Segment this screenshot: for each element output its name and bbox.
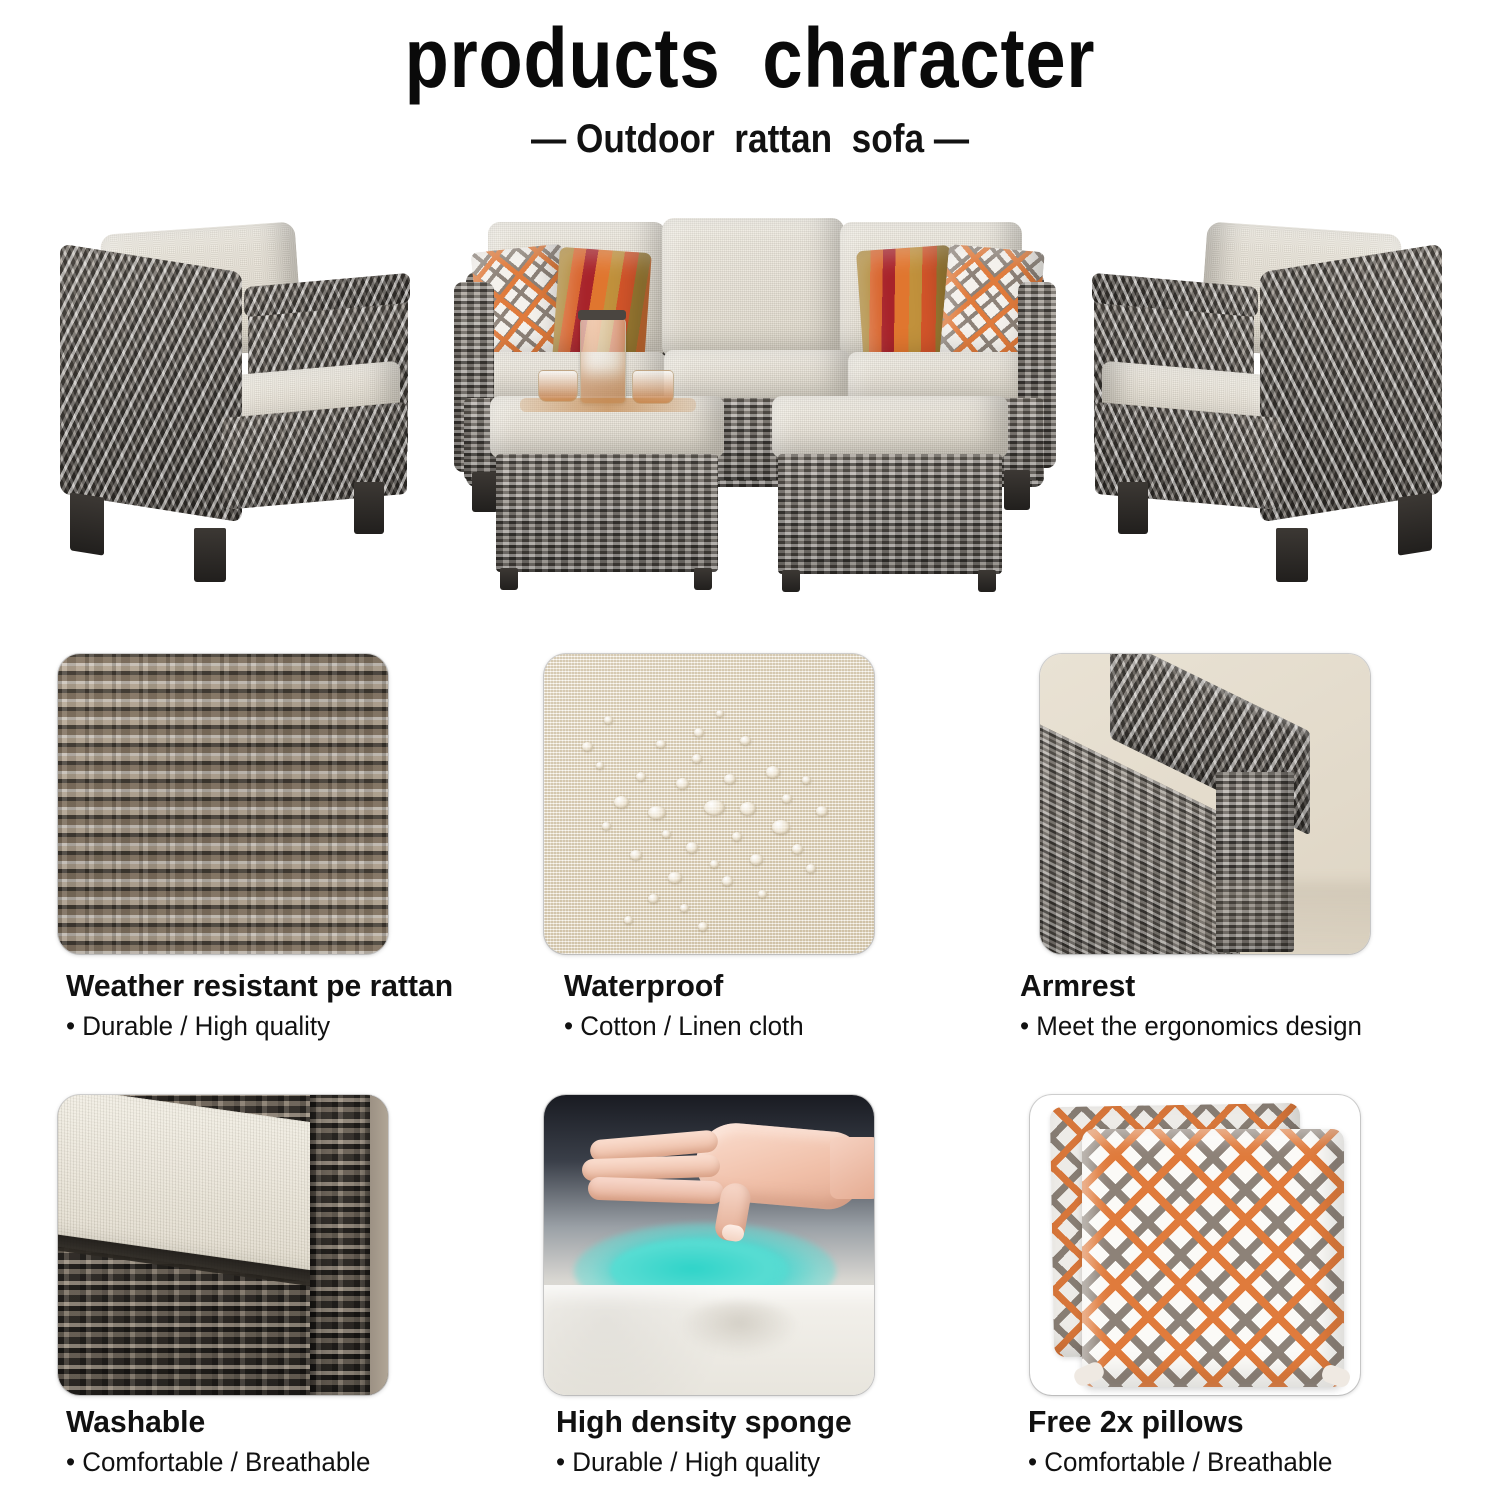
feature-title-high-density-sponge: High density sponge [556, 1404, 852, 1440]
center-sofa-set [448, 200, 1058, 595]
table-runner [520, 398, 696, 412]
header: products character — Outdoor rattan sofa… [0, 0, 1500, 185]
feature-card-free-2x-pillows [1030, 1095, 1360, 1395]
right-armchair [1090, 210, 1450, 585]
page-subtitle: — Outdoor rattan sofa — [90, 117, 1410, 162]
feature-title-free-2x-pillows: Free 2x pillows [1028, 1404, 1244, 1440]
feature-desc-armrest: • Meet the ergonomics design [1020, 1011, 1362, 1042]
feature-title-waterproof: Waterproof [564, 968, 723, 1004]
feature-title-armrest: Armrest [1020, 968, 1135, 1004]
hand [566, 1121, 866, 1246]
pillow-front [1082, 1129, 1344, 1387]
feature-desc-high-density-sponge: • Durable / High quality [556, 1447, 820, 1478]
hero-product-image [0, 190, 1500, 595]
feature-card-weather-resistant-pe-rattan [58, 654, 388, 954]
feature-title-weather-resistant-pe-rattan: Weather resistant pe rattan [66, 968, 453, 1004]
feature-card-waterproof [544, 654, 874, 954]
feature-title-washable: Washable [66, 1404, 205, 1440]
ottoman-right [768, 396, 1012, 594]
feature-card-high-density-sponge [544, 1095, 874, 1395]
ottoman-left [486, 396, 728, 592]
teapot [580, 318, 626, 404]
left-armchair [52, 210, 412, 585]
feature-desc-weather-resistant-pe-rattan: • Durable / High quality [66, 1011, 330, 1042]
feature-desc-waterproof: • Cotton / Linen cloth [564, 1011, 804, 1042]
feature-desc-washable: • Comfortable / Breathable [66, 1447, 370, 1478]
feature-desc-free-2x-pillows: • Comfortable / Breathable [1028, 1447, 1332, 1478]
feature-card-armrest [1040, 654, 1370, 954]
infographic-page: products character — Outdoor rattan sofa… [0, 0, 1500, 1500]
feature-card-washable [58, 1095, 388, 1395]
page-title: products character [105, 14, 1395, 102]
